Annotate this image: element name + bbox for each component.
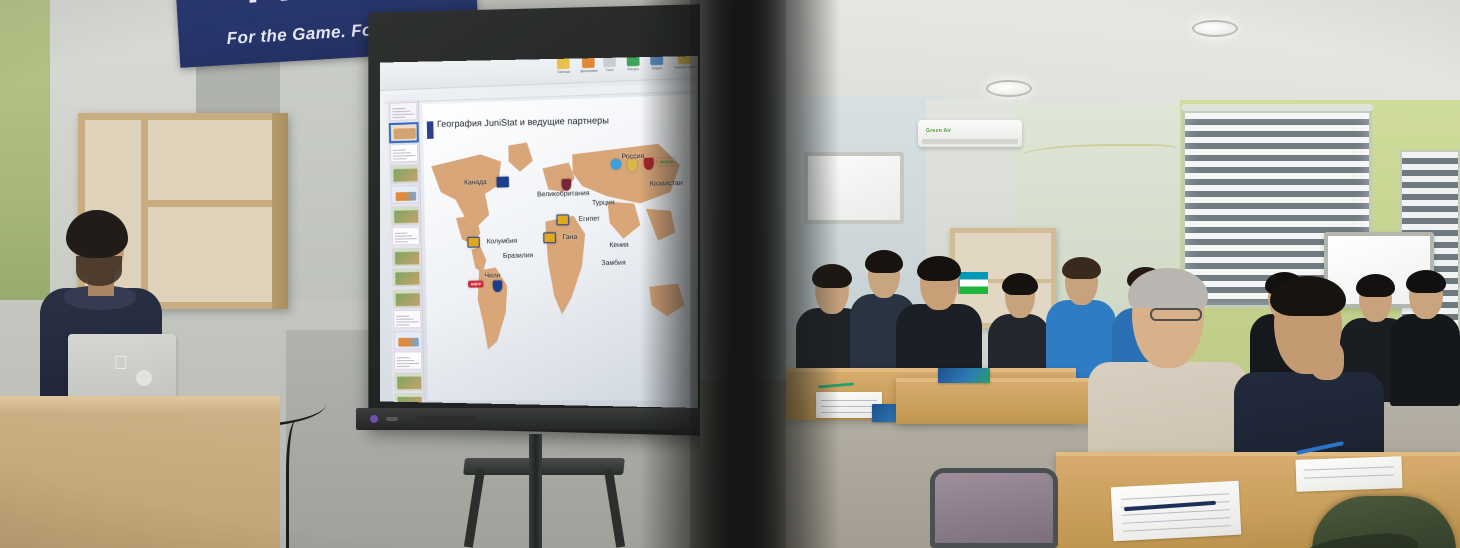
west-ham-logo xyxy=(561,179,571,191)
ribbon-group-4[interactable]: Фигуры xyxy=(627,56,640,71)
slide-title-accent-bar xyxy=(427,121,434,139)
foreground-chair[interactable] xyxy=(930,468,1058,548)
slide-thumbnail-11[interactable] xyxy=(393,310,421,329)
slide-thumbnail-3[interactable] xyxy=(390,143,418,162)
map-country-label: Замбия xyxy=(601,259,625,267)
map-country-label: Колумбия xyxy=(487,237,518,245)
slide-thumbnail-4[interactable] xyxy=(390,164,418,183)
slide-thumbnail-14[interactable] xyxy=(394,372,422,390)
chile-federation-logo xyxy=(493,280,503,292)
apple-logo-icon:  xyxy=(112,354,130,374)
speaker-grille-icon xyxy=(416,416,476,423)
slide-thumbnail-7[interactable] xyxy=(392,227,420,246)
programme-booklet xyxy=(938,368,990,383)
slide-canvas[interactable]: География JuniStat и ведущие партнеры xyxy=(423,95,698,401)
slide-title: География JuniStat и ведущие партнеры xyxy=(437,114,609,129)
map-country-label: Гана xyxy=(562,233,577,241)
slide-thumbnail-13[interactable] xyxy=(394,351,422,369)
ribbon-icon xyxy=(650,56,663,65)
display-stand-shelf xyxy=(463,458,625,475)
audience-panel: Green Air xyxy=(700,0,1460,548)
slide-thumbnail-12[interactable] xyxy=(394,331,422,350)
map-country-label: Кения xyxy=(609,241,628,249)
world-map xyxy=(423,135,698,366)
ribbon-group-3[interactable]: Текст xyxy=(603,56,616,72)
thumbnail-photo-image xyxy=(393,168,417,181)
ribbon-group-1[interactable]: Таблица xyxy=(557,58,570,74)
thumbnail-map-image xyxy=(394,127,416,138)
slide-thumbnail-5[interactable] xyxy=(391,185,419,204)
display-control-bar[interactable] xyxy=(356,408,708,430)
slide-thumbnail-rail[interactable] xyxy=(387,100,424,402)
ribbon-group-label: Таблица xyxy=(557,70,570,74)
slide-thumbnail-1[interactable] xyxy=(389,102,417,121)
egypt-partner-logo xyxy=(557,214,570,225)
ceiling-light xyxy=(986,80,1032,97)
ribbon-icon xyxy=(627,56,640,66)
ribbon-icon xyxy=(557,58,570,69)
whiteboard-left xyxy=(804,152,904,224)
map-country-label: Бразилия xyxy=(503,251,533,259)
ribbon-group-label: Комментарий xyxy=(674,65,695,70)
thumbnail-photo-image xyxy=(397,376,421,389)
bookshelf-divider-horizontal xyxy=(141,200,281,207)
ribbon-icon xyxy=(582,57,595,68)
open-notebook xyxy=(1295,456,1402,492)
slide-thumbnail-2[interactable] xyxy=(390,123,418,142)
ribbon-group-5[interactable]: Медиа xyxy=(650,56,663,70)
thumbnail-photo-image xyxy=(395,272,419,285)
thumbnail-photo-image xyxy=(395,251,419,264)
hand-on-chin xyxy=(1310,340,1344,380)
presenter-panel: FIFA For the Game. For the World.  xyxy=(0,0,760,548)
iskra-logo: ИСКРА xyxy=(658,158,676,165)
ribbon-group-label: Фигуры xyxy=(627,67,640,71)
screenshot-canvas: FIFA For the Game. For the World.  xyxy=(0,0,1460,548)
attendee-person xyxy=(1390,266,1460,406)
slide-thumbnail-9[interactable] xyxy=(392,268,420,287)
thumbnail-photo-image xyxy=(394,210,418,223)
presenter-beard xyxy=(76,256,122,286)
power-cable-secondary xyxy=(286,420,312,548)
powerpoint-screen[interactable]: ТаблицаДиаграммаТекстФигурыМедиаКоммента… xyxy=(380,56,698,408)
map-country-label: Турция xyxy=(592,198,615,206)
open-notebook xyxy=(1111,481,1242,542)
map-country-label: Канада xyxy=(464,178,487,186)
canada-partner-logo xyxy=(496,177,509,188)
slide-thumbnail-8[interactable] xyxy=(392,247,420,266)
ceiling-light xyxy=(1192,20,1238,37)
sensor-icon xyxy=(386,417,398,421)
slide-thumbnail-6[interactable] xyxy=(391,206,419,225)
blind-rod[interactable] xyxy=(1181,104,1373,111)
anfp-logo: ANFP xyxy=(469,281,484,288)
air-conditioner: Green Air xyxy=(918,120,1022,147)
thumbnail-chart-image xyxy=(398,337,419,346)
map-country-label: Египет xyxy=(578,215,600,223)
ribbon-icon xyxy=(603,56,616,67)
map-country-label: Казахстан xyxy=(650,179,683,188)
bookshelf-side-panel xyxy=(272,113,288,309)
ribbon-group-6[interactable]: Комментарий xyxy=(674,56,696,69)
presenter-desk xyxy=(0,398,280,548)
ghana-partner-logo xyxy=(543,232,556,243)
presenter-hair xyxy=(66,210,128,258)
cap-brim xyxy=(1297,530,1419,548)
desk-top-edge xyxy=(0,396,280,412)
map-country-label: Чили xyxy=(484,272,500,280)
colombia-partner-logo xyxy=(468,237,480,248)
ribbon-group-label: Медиа xyxy=(650,66,663,70)
ribbon-group-label: Текст xyxy=(604,68,617,72)
fifa-logo-text: FIFA xyxy=(244,0,359,14)
power-button-icon[interactable] xyxy=(370,415,378,423)
ribbon-group-label: Диаграмма xyxy=(580,69,597,74)
interactive-display[interactable]: ТаблицаДиаграммаТекстФигурыМедиаКоммента… xyxy=(352,4,712,436)
slide-thumbnail-10[interactable] xyxy=(393,289,421,308)
thumbnail-chart-image xyxy=(396,192,417,201)
laptop-sticker xyxy=(136,370,152,386)
eyeglasses-icon xyxy=(1150,308,1202,321)
map-country-label: Великобритания xyxy=(537,189,590,198)
thumbnail-photo-image xyxy=(396,293,420,306)
ribbon-group-2[interactable]: Диаграмма xyxy=(580,57,597,73)
macbook-laptop[interactable]:  xyxy=(68,334,176,400)
ribbon-icon xyxy=(678,56,691,64)
ac-vent-icon xyxy=(922,139,1018,144)
display-stand-pole xyxy=(529,434,542,548)
ac-brand-label: Green Air xyxy=(926,128,951,134)
